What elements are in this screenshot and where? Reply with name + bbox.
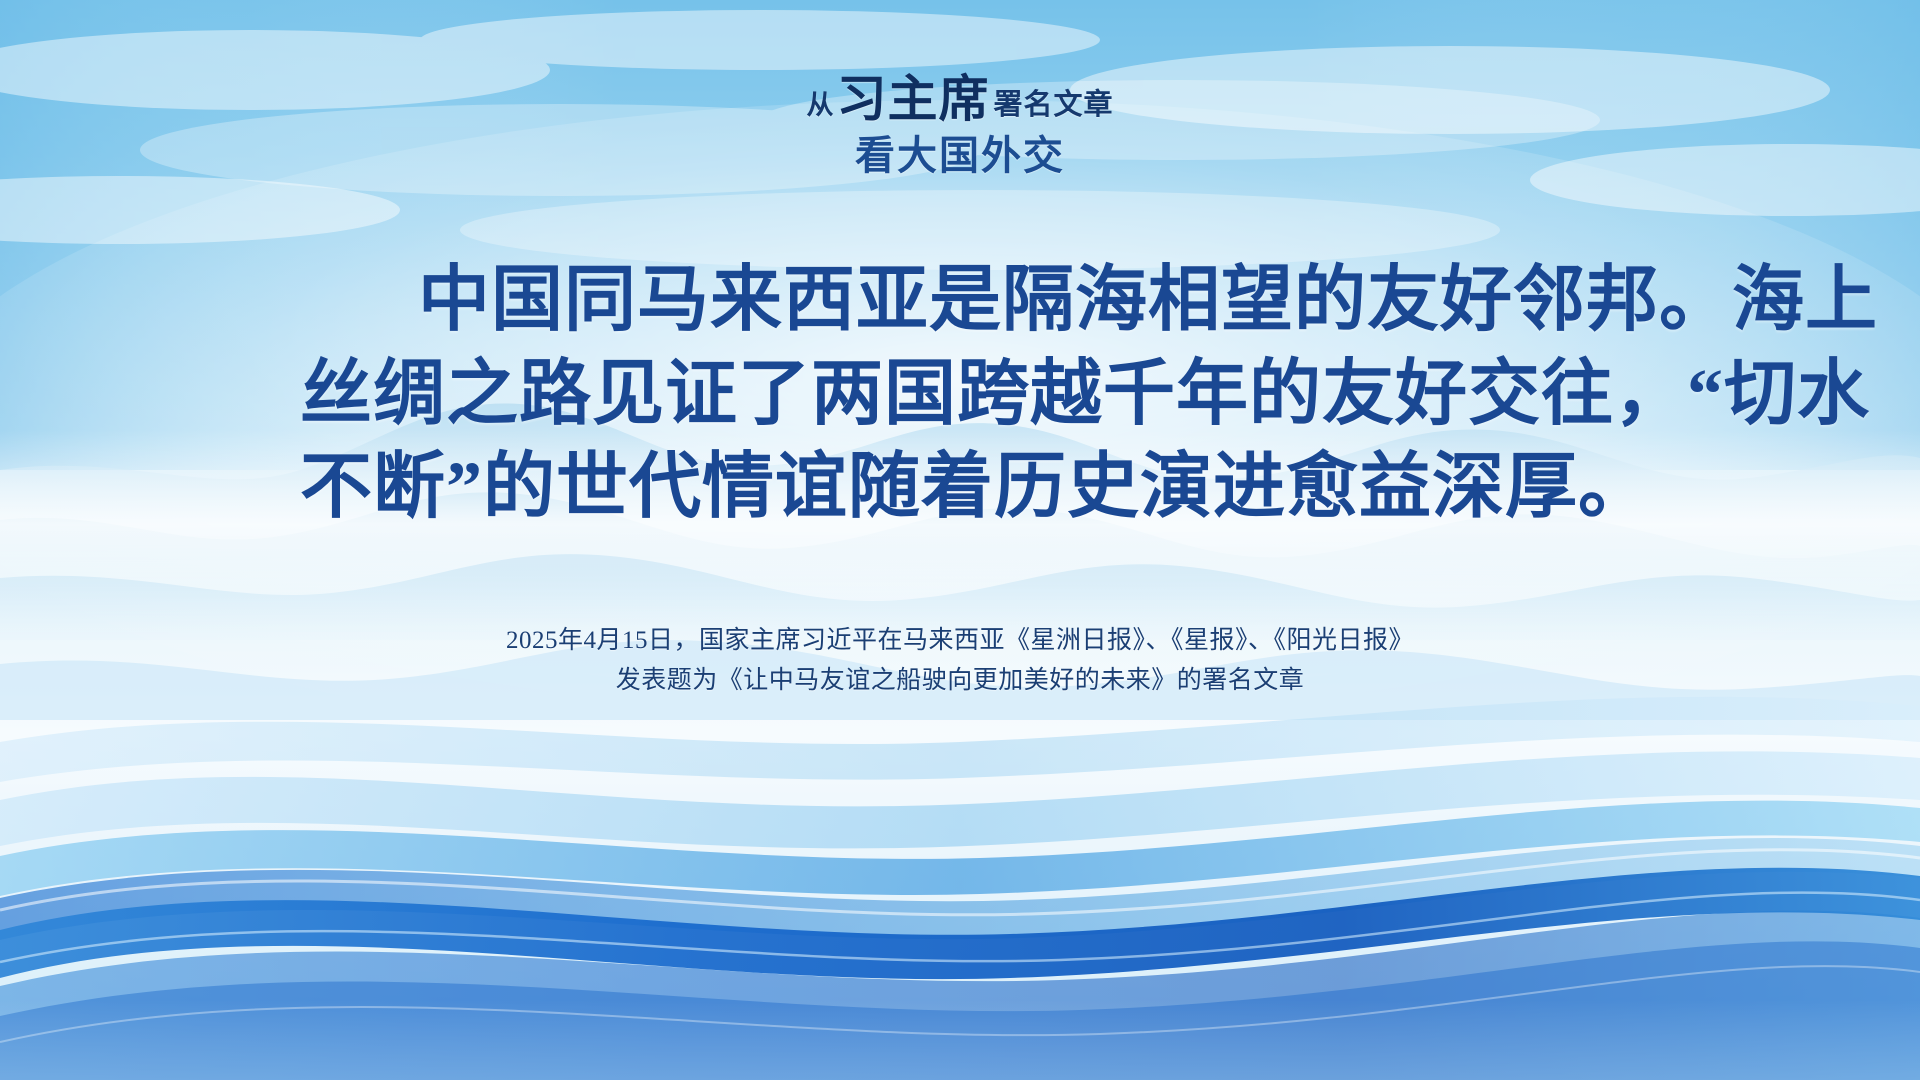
poster-canvas: 从 习主席 署名文章 看大国外交 中国同马来西亚是隔海相望的友好邻邦。海上 丝绸… bbox=[0, 0, 1920, 1080]
quote-line: 丝绸之路见证了两国跨越千年的友好交往，“切水 bbox=[300, 348, 1620, 442]
quote-line: 不断”的世代情谊随着历史演进愈益深厚。 bbox=[300, 441, 1620, 535]
header-suffix: 署名文章 bbox=[993, 91, 1113, 120]
poster-header: 从 习主席 署名文章 看大国外交 bbox=[806, 74, 1113, 176]
header-main-title: 习主席 bbox=[836, 74, 989, 124]
quote-attribution: 2025年4月15日，国家主席习近平在马来西亚《星洲日报》、《星报》、《阳光日报… bbox=[506, 621, 1414, 702]
quote-line: 中国同马来西亚是隔海相望的友好邻邦。海上 bbox=[300, 254, 1620, 348]
caption-line: 发表题为《让中马友谊之船驶向更加美好的未来》的署名文章 bbox=[506, 661, 1414, 702]
quote-text: 中国同马来西亚是隔海相望的友好邻邦。海上 丝绸之路见证了两国跨越千年的友好交往，… bbox=[300, 254, 1620, 535]
header-line-2: 看大国外交 bbox=[806, 136, 1113, 176]
header-line-1: 从 习主席 署名文章 bbox=[806, 74, 1113, 124]
header-prefix: 从 bbox=[806, 92, 833, 119]
caption-line: 2025年4月15日，国家主席习近平在马来西亚《星洲日报》、《星报》、《阳光日报… bbox=[506, 621, 1414, 662]
